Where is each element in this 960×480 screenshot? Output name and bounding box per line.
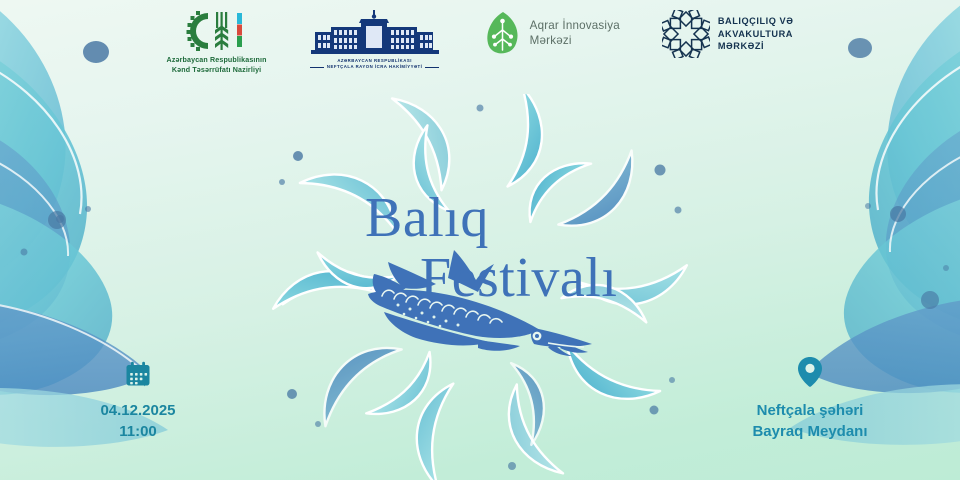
festival-title-line-1: Balıq: [365, 186, 489, 250]
festival-title-block: Balıq: [280, 186, 680, 346]
logo-fishery-aquaculture: BALIQÇILIQ VƏ AKVAKULTURA MƏRKƏZİ: [662, 10, 794, 58]
caption-line-2: Mərkəzi: [530, 34, 620, 49]
fish-scale-ring-icon: [662, 10, 710, 58]
logo-agriculture-ministry-caption: Azərbaycan Respublikasının Kənd Təsərrüf…: [167, 55, 267, 76]
calendar-icon: [124, 360, 152, 388]
caption-line-2: NEFTÇALA RAYON İCRA HAKİMİYYƏTİ: [327, 64, 423, 70]
caption-line-2: Kənd Təsərrüfatı Nazirliyi: [167, 65, 267, 75]
caption-line-1: Azərbaycan Respublikasının: [167, 55, 267, 65]
event-time: 11:00: [58, 421, 218, 442]
leaf-circuit-icon: [483, 10, 523, 58]
sponsor-logo-bar: Azərbaycan Respublikasının Kənd Təsərrüf…: [0, 10, 960, 90]
caption-line-1: Aqrar İnnovasiya: [530, 19, 620, 34]
event-date-block: 04.12.2025 11:00: [58, 360, 218, 443]
caption-line-3: MƏRKƏZİ: [718, 40, 794, 53]
logo-agriculture-ministry: Azərbaycan Respublikasının Kənd Təsərrüf…: [167, 10, 267, 76]
event-location-line-1: Neftçala şəhəri: [700, 400, 920, 421]
caption-line-1: BALIQÇILIQ VƏ: [718, 15, 794, 28]
festival-poster: Azərbaycan Respublikasının Kənd Təsərrüf…: [0, 0, 960, 480]
location-pin-icon: [797, 356, 823, 388]
gear-wheat-flag-icon: [186, 10, 248, 52]
caption-line-2: AKVAKULTURA: [718, 28, 794, 41]
event-location-block: Neftçala şəhəri Bayraq Meydanı: [700, 356, 920, 443]
logo-ministry-building: AZƏRBAYCAN RESPUBLİKASI NEFTÇALA RAYON İ…: [309, 10, 441, 71]
logo-fishery-aquaculture-caption: BALIQÇILIQ VƏ AKVAKULTURA MƏRKƏZİ: [718, 15, 794, 53]
government-building-icon: [309, 10, 441, 56]
logo-agrar-innovation: Aqrar İnnovasiya Mərkəzi: [483, 10, 620, 58]
event-location-line-2: Bayraq Meydanı: [700, 421, 920, 442]
event-date: 04.12.2025: [58, 400, 218, 421]
logo-ministry-building-caption: AZƏRBAYCAN RESPUBLİKASI NEFTÇALA RAYON İ…: [310, 58, 440, 71]
logo-agrar-innovation-caption: Aqrar İnnovasiya Mərkəzi: [530, 19, 620, 49]
festival-title-line-2: Festivalı: [420, 246, 617, 310]
